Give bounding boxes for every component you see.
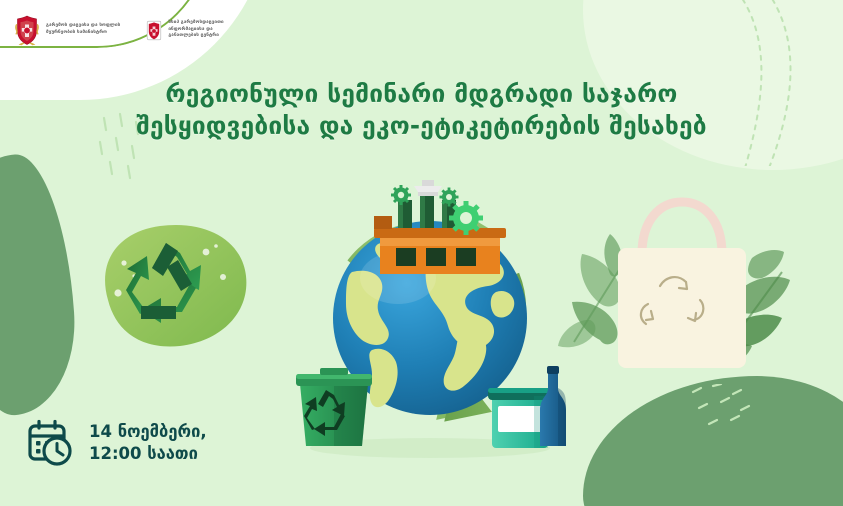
title-line-2: შესყიდვებისა და ეკო-ეტიკეტირების შესახებ [95,110,748,142]
center-globe-graphic [296,180,566,458]
speck-cluster-bottom-right [687,384,757,434]
bottle-icon [540,366,566,446]
recycling-symbol-icon [126,243,201,323]
logo-ministry-line2: მეურნეობის სამინისტრო [46,30,120,37]
left-recycling-graphic [105,225,246,347]
logo-eiec: სსიპ გარემოსდაცვითი ინფორმაციისა და განა… [146,20,223,41]
leaves-right [718,250,790,366]
cycle-arrows [343,206,530,421]
globe-landmasses [346,240,514,407]
calendar-clock-icon [26,418,76,468]
bag-recycle-arrows [641,277,703,324]
eiec-crest-icon [146,20,162,41]
factory-icon [374,180,506,274]
factory-chimneys [398,196,456,228]
event-date-block: 14 ნოემბერი, 12:00 საათი [26,418,207,468]
logo-ministry-text: გარემოს დაცვისა და სოფლის მეურნეობის სამ… [46,23,120,36]
logo-ministry: გარემოს დაცვისა და სოფლის მეურნეობის სამ… [14,15,120,46]
bin-recycle-symbol [304,390,345,436]
logo-eiec-line1: სსიპ გარემოსდაცვითი [168,20,223,27]
gear-icons [391,185,483,235]
event-time-line2: 12:00 საათი [89,443,207,465]
recycle-bin-icon [296,368,372,446]
logo-eiec-text: სსიპ გარემოსდაცვითი ინფორმაციისა და განა… [168,20,223,40]
georgia-coat-of-arms-icon [14,15,40,46]
poster-title: რეგიონული სემინარი მდგრადი საჯარო შესყიდ… [0,78,843,143]
bottom-right-green-blob [583,376,843,506]
event-date-text: 14 ნოემბერი, 12:00 საათი [89,421,207,465]
left-green-blob [0,151,81,419]
logo-ministry-line1: გარემოს დაცვისა და სოფლის [46,23,120,30]
logo-eiec-line3: განათლების ცენტრი [168,33,223,40]
right-tote-bag-graphic [558,202,790,368]
poster-canvas: გარემოს დაცვისა და სოფლის მეურნეობის სამ… [0,0,843,506]
header-logos: გარემოს დაცვისა და სოფლის მეურნეობის სამ… [0,0,224,60]
title-line-1: რეგიონული სემინარი მდგრადი საჯარო [95,78,748,110]
jar-icon [488,388,552,448]
leaves-left [558,234,624,347]
event-date-line1: 14 ნოემბერი, [89,421,207,443]
